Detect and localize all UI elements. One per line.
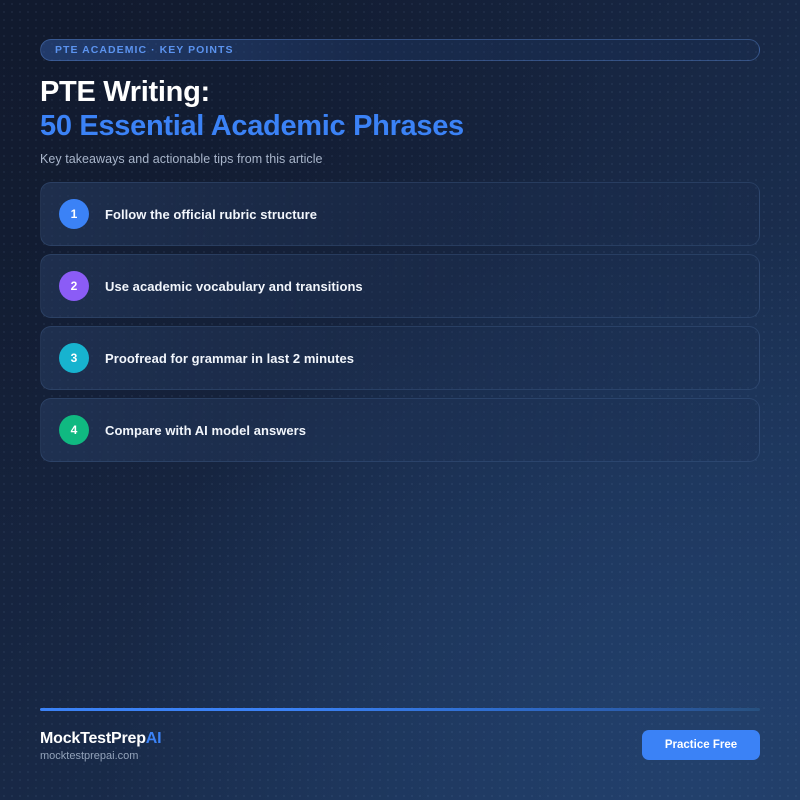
page-title-secondary: 50 Essential Academic Phrases [40,110,760,142]
key-point-card: 2Use academic vocabulary and transitions [40,254,760,318]
poster-content: PTE ACADEMIC · KEY POINTS PTE Writing: 5… [40,0,760,800]
key-point-card: 1Follow the official rubric structure [40,182,760,246]
poster-canvas: PTE ACADEMIC · KEY POINTS PTE Writing: 5… [0,0,800,800]
key-point-number-badge: 2 [59,271,89,301]
footer: MockTestPrepAI mocktestprepai.com Practi… [40,730,760,770]
key-point-number-badge: 3 [59,343,89,373]
page-title-primary: PTE Writing: [40,76,760,108]
key-point-card: 4Compare with AI model answers [40,398,760,462]
eyebrow-label: PTE ACADEMIC · KEY POINTS [41,44,234,56]
key-point-label: Follow the official rubric structure [105,207,317,222]
key-point-label: Compare with AI model answers [105,423,306,438]
key-point-number-badge: 4 [59,415,89,445]
brand-accent: AI [146,730,162,747]
practice-free-button[interactable]: Practice Free [642,730,760,760]
key-point-card: 3Proofread for grammar in last 2 minutes [40,326,760,390]
key-point-label: Use academic vocabulary and transitions [105,279,363,294]
headline-block: PTE Writing: 50 Essential Academic Phras… [40,76,760,166]
brand-name: MockTestPrep [40,730,146,747]
page-subtitle: Key takeaways and actionable tips from t… [40,152,760,166]
key-point-number-badge: 1 [59,199,89,229]
key-point-label: Proofread for grammar in last 2 minutes [105,351,354,366]
key-points-list: 1Follow the official rubric structure2Us… [40,182,760,470]
footer-divider [40,708,760,711]
eyebrow-badge: PTE ACADEMIC · KEY POINTS [40,39,760,61]
